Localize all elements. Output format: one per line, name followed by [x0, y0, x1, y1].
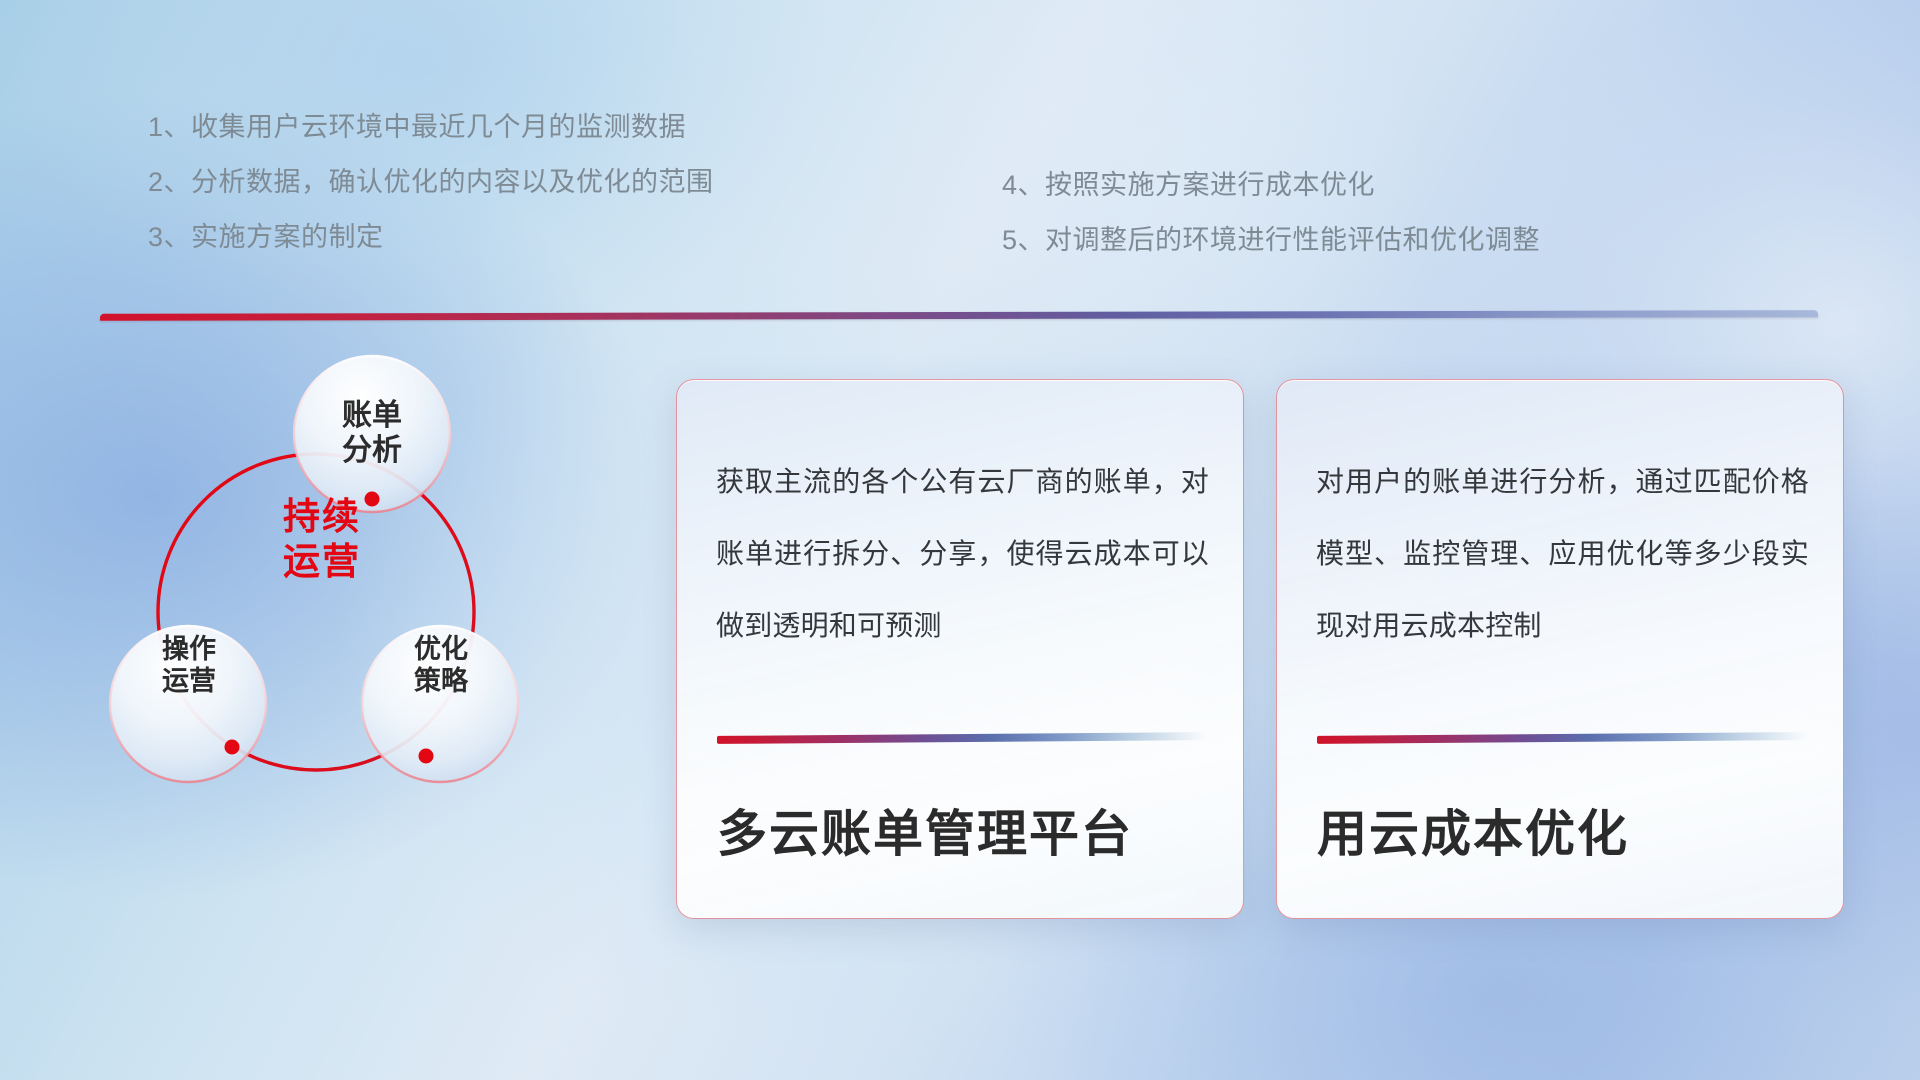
- step-item-5: 5、对调整后的环境进行性能评估和优化调整: [1002, 213, 1540, 268]
- step-item-1: 1、收集用户云环境中最近几个月的监测数据: [148, 100, 714, 155]
- steps-list-left: 1、收集用户云环境中最近几个月的监测数据 2、分析数据，确认优化的内容以及优化的…: [148, 100, 714, 265]
- info-card-cloud-cost-optimization[interactable]: 对用户的账单进行分析，通过匹配价格模型、监控管理、应用优化等多少段实现对用云成本…: [1276, 379, 1844, 919]
- venn-label-center: 持续 运营: [232, 494, 412, 584]
- slide-canvas: 1、收集用户云环境中最近几个月的监测数据 2、分析数据，确认优化的内容以及优化的…: [0, 0, 1920, 1080]
- step-item-3: 3、实施方案的制定: [148, 210, 714, 265]
- venn-node-dot-right: [419, 749, 434, 764]
- venn-label-optimization-policy: 优化 策略: [376, 634, 506, 698]
- venn-node-dot-left: [225, 740, 240, 755]
- card-body-text: 对用户的账单进行分析，通过匹配价格模型、监控管理、应用优化等多少段实现对用云成本…: [1316, 446, 1809, 662]
- card-body-text: 获取主流的各个公有云厂商的账单，对账单进行拆分、分享，使得云成本可以做到透明和可…: [716, 446, 1209, 662]
- venn-label-billing-analysis: 账单 分析: [302, 398, 442, 469]
- card-divider: [717, 732, 1207, 744]
- venn-diagram: 账单 分析 操作 运营 优化 策略 持续 运营: [96, 352, 536, 952]
- card-title-text: 多云账单管理平台: [717, 794, 1133, 866]
- venn-label-operation-ops: 操作 运营: [124, 634, 254, 698]
- step-item-2: 2、分析数据，确认优化的内容以及优化的范围: [148, 155, 714, 210]
- step-item-4: 4、按照实施方案进行成本优化: [1002, 158, 1540, 213]
- info-card-multi-cloud-billing-platform[interactable]: 获取主流的各个公有云厂商的账单，对账单进行拆分、分享，使得云成本可以做到透明和可…: [676, 379, 1244, 919]
- steps-list-right: 4、按照实施方案进行成本优化 5、对调整后的环境进行性能评估和优化调整: [1002, 158, 1540, 268]
- card-title-text: 用云成本优化: [1317, 794, 1629, 866]
- card-divider: [1317, 732, 1807, 744]
